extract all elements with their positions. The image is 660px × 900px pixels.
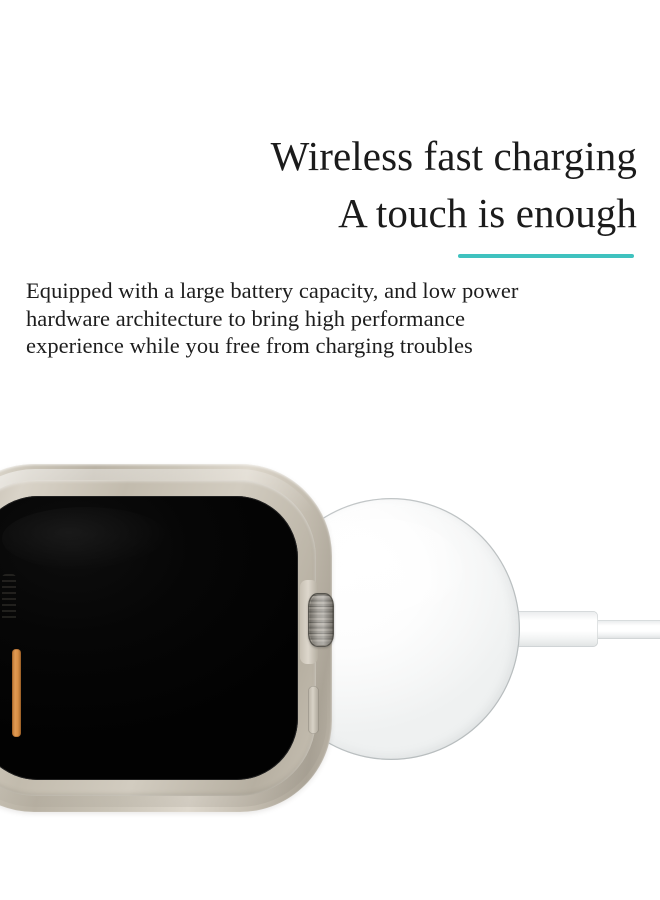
body-line-1: Equipped with a large battery capacity, … bbox=[26, 277, 641, 305]
watch-side-button bbox=[308, 686, 319, 734]
body-line-2: hardware architecture to bring high perf… bbox=[26, 305, 641, 333]
accent-underline bbox=[458, 254, 634, 258]
watch-display-screen bbox=[0, 496, 298, 780]
body-paragraph: Equipped with a large battery capacity, … bbox=[26, 277, 641, 360]
product-feature-page: Wireless fast charging A touch is enough… bbox=[0, 0, 660, 900]
headline-line-2: A touch is enough bbox=[0, 193, 637, 234]
screen-glare bbox=[2, 507, 169, 569]
smartwatch bbox=[0, 464, 332, 812]
headline-block: Wireless fast charging A touch is enough bbox=[0, 136, 637, 234]
watch-action-button bbox=[12, 649, 21, 737]
product-photo bbox=[0, 430, 660, 900]
charging-cable-cord bbox=[592, 620, 660, 639]
crown-cap-highlight bbox=[310, 595, 333, 645]
watch-speaker-slots bbox=[2, 574, 16, 622]
headline-line-1: Wireless fast charging bbox=[0, 136, 637, 177]
body-line-3: experience while you free from charging … bbox=[26, 332, 641, 360]
watch-digital-crown bbox=[308, 593, 334, 647]
